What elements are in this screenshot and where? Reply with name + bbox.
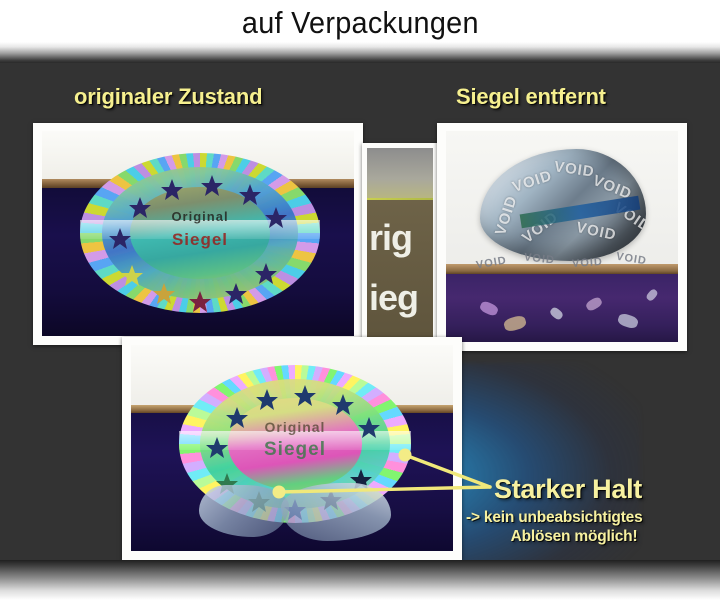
strip-text-fragment-1: rig [369,220,412,256]
original-seal-photo: Original Siegel [42,131,354,336]
photo-frame-package-strip: rig ieg [362,143,438,351]
void-mark-6: VOID [575,219,618,244]
void-mark-1: VOID [492,194,521,238]
photo-frame-strong-hold: Original Siegel [122,337,462,560]
page-title: auf Verpackungen [242,7,479,38]
strip-background [367,148,433,200]
hologram-seal-intact: Original Siegel [80,153,320,313]
photo-frame-original-seal: Original Siegel [33,123,363,345]
callout-headline: Starker Halt [494,474,642,505]
slide-root: auf Verpackungen originaler Zustand Sieg… [0,0,720,600]
bottom-gradient-divider [0,560,720,600]
callout-subtext: -> kein unbeabsichtigtes Ablösen möglich… [466,508,710,546]
title-band: auf Verpackungen [0,0,720,44]
strip-text-fragment-2: ieg [369,280,418,316]
hologram-star-circle [80,153,320,313]
removed-seal-photo: VOID VOID VOID VOID VOID VOID VOID VOID … [446,131,678,342]
callout-subtext-line2: Ablösen möglich! [466,527,710,546]
callout-subtext-line1: -> kein unbeabsichtigtes [466,508,710,527]
void-mark-3: VOID [553,158,596,180]
residue-void-3: VOID [572,256,604,270]
lifted-foil-right [281,483,391,541]
package-strip-photo: rig ieg [367,148,433,346]
photo-frame-removed-seal: VOID VOID VOID VOID VOID VOID VOID VOID … [437,123,687,351]
heading-seal-removed: Siegel entfernt [456,84,606,110]
heading-original-state: originaler Zustand [74,84,262,110]
top-gradient-divider [0,42,720,64]
void-mark-2: VOID [510,167,554,196]
strong-hold-photo: Original Siegel [131,345,453,551]
